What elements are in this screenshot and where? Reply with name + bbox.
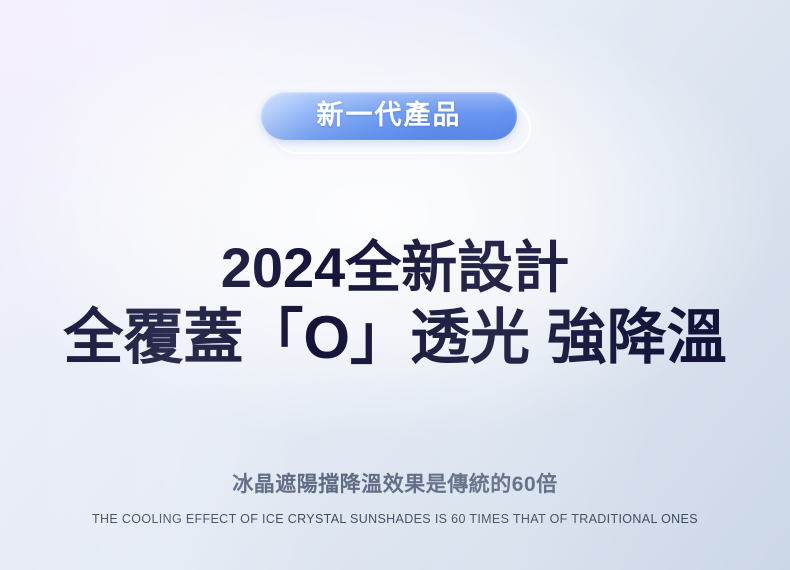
- badge-container: 新一代產品: [0, 92, 790, 154]
- page-title: 2024全新設計 全覆蓋「O」透光 強降溫: [0, 238, 790, 372]
- badge-label: 新一代產品: [317, 102, 462, 131]
- new-generation-badge[interactable]: 新一代產品: [261, 92, 517, 140]
- headline-line-2: 全覆蓋「O」透光 強降溫: [0, 304, 790, 371]
- subtitle-english: THE COOLING EFFECT OF ICE CRYSTAL SUNSHA…: [0, 512, 790, 526]
- badge-stack: 新一代產品: [261, 92, 529, 154]
- promo-banner: 新一代產品 2024全新設計 全覆蓋「O」透光 強降溫 冰晶遮陽擋降溫效果是傳統…: [0, 0, 790, 570]
- headline-line-1: 2024全新設計: [0, 238, 790, 298]
- subtitle-chinese: 冰晶遮陽擋降溫效果是傳統的60倍: [0, 468, 790, 498]
